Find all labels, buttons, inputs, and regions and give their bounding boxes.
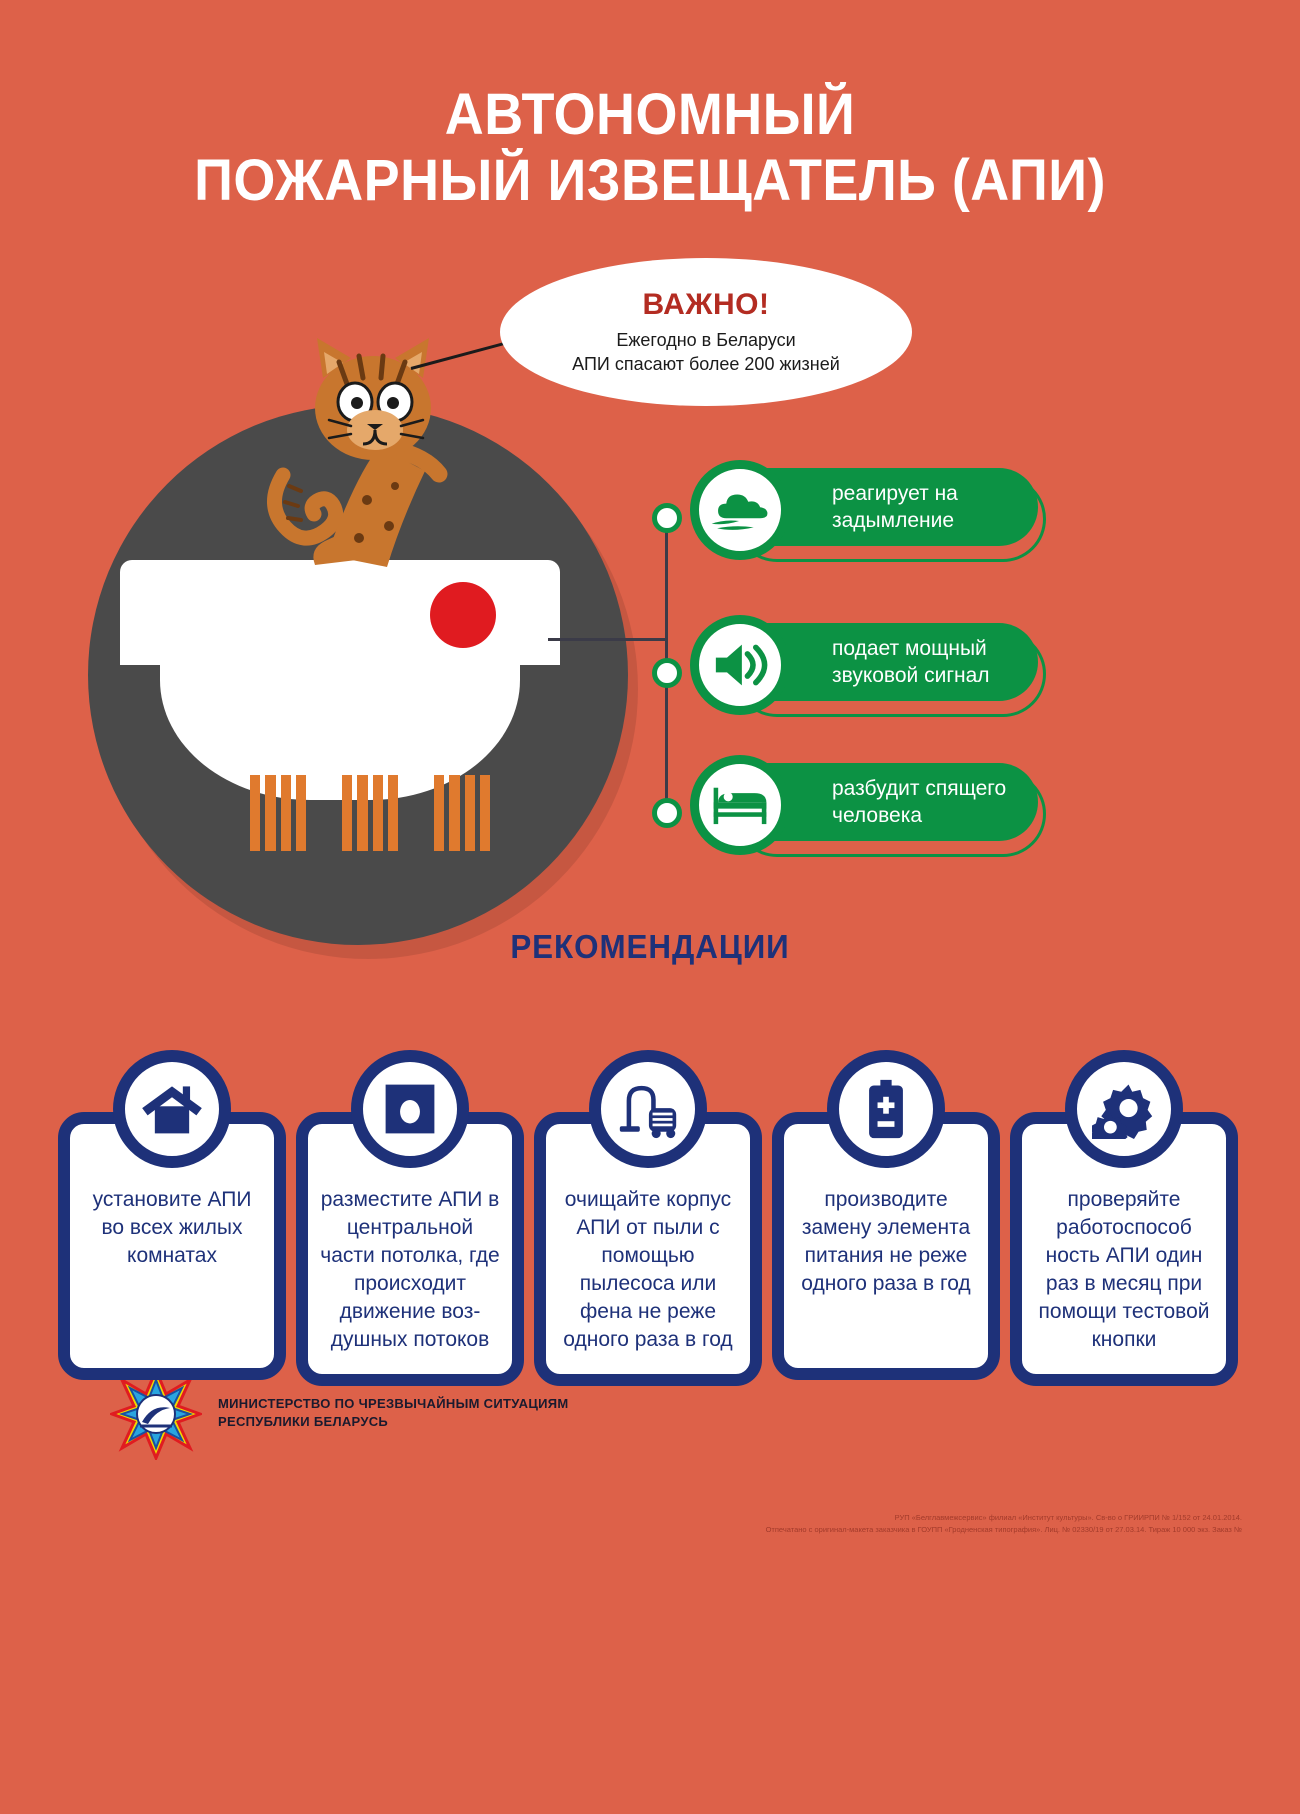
feature-label-line-1: реагирует на bbox=[832, 480, 958, 507]
recommendation-card: производите замену элемента питания не р… bbox=[772, 1050, 1000, 1386]
smoke-detector-illustration bbox=[120, 560, 560, 810]
bubble-line-2: АПИ спасают более 200 жизней bbox=[572, 352, 840, 376]
house-icon bbox=[113, 1050, 231, 1168]
feature-label-line-1: подает мощный bbox=[832, 635, 990, 662]
page-title: АВТОНОМНЫЙ ПОЖАРНЫЙ ИЗВЕЩАТЕЛЬ (АПИ) bbox=[0, 82, 1300, 214]
mchs-emblem-icon bbox=[110, 1368, 202, 1460]
recommendation-card: очищайте корпус АПИ от пыли с помощью пы… bbox=[534, 1050, 762, 1386]
detector-body bbox=[160, 660, 520, 800]
title-line-1: АВТОНОМНЫЙ bbox=[46, 82, 1255, 148]
recommendations-heading: РЕКОМЕНДАЦИИ bbox=[33, 928, 1268, 966]
connector-node bbox=[652, 658, 682, 688]
recommendation-card: установите АПИ во всех жилых комнатах bbox=[58, 1050, 286, 1386]
recommendations-row: установите АПИ во всех жилых комнатах ра… bbox=[58, 1050, 1242, 1386]
cat-mascot-icon bbox=[255, 300, 485, 590]
recommendation-card: разместите АПИ в центральной части потол… bbox=[296, 1050, 524, 1386]
feature-label-line-2: звуковой сигнал bbox=[832, 662, 990, 689]
feature-label-line-1: разбудит спящего bbox=[832, 775, 1006, 802]
ceiling-detector-icon bbox=[351, 1050, 469, 1168]
fineprint-line-2: Отпечатано с оригинал-макета заказчика в… bbox=[582, 1524, 1242, 1536]
poster-root: АВТОНОМНЫЙ ПОЖАРНЫЙ ИЗВЕЩАТЕЛЬ (АПИ) bbox=[0, 0, 1300, 1814]
fineprint-line-1: РУП «Белглавмежсервис» филиал «Институт … bbox=[582, 1512, 1242, 1524]
speaker-sound-icon bbox=[690, 615, 790, 715]
bubble-line-1: Ежегодно в Беларуси bbox=[616, 328, 795, 352]
feature-badge-smoke: реагирует на задымление bbox=[690, 468, 1046, 562]
vacuum-cleaner-icon bbox=[589, 1050, 707, 1168]
bubble-heading: ВАЖНО! bbox=[643, 288, 770, 322]
feature-label-line-2: задымление bbox=[832, 507, 958, 534]
connector-node bbox=[652, 798, 682, 828]
important-callout-bubble: ВАЖНО! Ежегодно в Беларуси АПИ спасают б… bbox=[500, 258, 912, 406]
battery-icon bbox=[827, 1050, 945, 1168]
detector-led-icon bbox=[430, 582, 496, 648]
bed-sleeping-icon bbox=[690, 755, 790, 855]
connector-node bbox=[652, 503, 682, 533]
ministry-name: МИНИСТЕРСТВО ПО ЧРЕЗВЫЧАЙНЫМ СИТУАЦИЯМ Р… bbox=[218, 1395, 569, 1431]
feature-badge-bed: разбудит спящего человека bbox=[690, 763, 1046, 857]
connector-horizontal bbox=[548, 638, 668, 641]
recommendation-card: проверяйте работоспособ ность АПИ один р… bbox=[1010, 1050, 1238, 1386]
feature-label-line-2: человека bbox=[832, 802, 1006, 829]
detector-vent-icon bbox=[434, 775, 490, 851]
detector-vent-icon bbox=[250, 775, 306, 851]
feature-badge-sound: подает мощный звуковой сигнал bbox=[690, 623, 1046, 717]
detector-vent-icon bbox=[342, 775, 398, 851]
title-line-2: ПОЖАРНЫЙ ИЗВЕЩАТЕЛЬ (АПИ) bbox=[46, 148, 1255, 214]
ministry-line-1: МИНИСТЕРСТВО ПО ЧРЕЗВЫЧАЙНЫМ СИТУАЦИЯМ bbox=[218, 1395, 569, 1413]
ministry-line-2: РЕСПУБЛИКИ БЕЛАРУСЬ bbox=[218, 1413, 569, 1431]
gears-icon bbox=[1065, 1050, 1183, 1168]
fineprint: РУП «Белглавмежсервис» филиал «Институт … bbox=[582, 1512, 1242, 1536]
smoke-cloud-icon bbox=[690, 460, 790, 560]
